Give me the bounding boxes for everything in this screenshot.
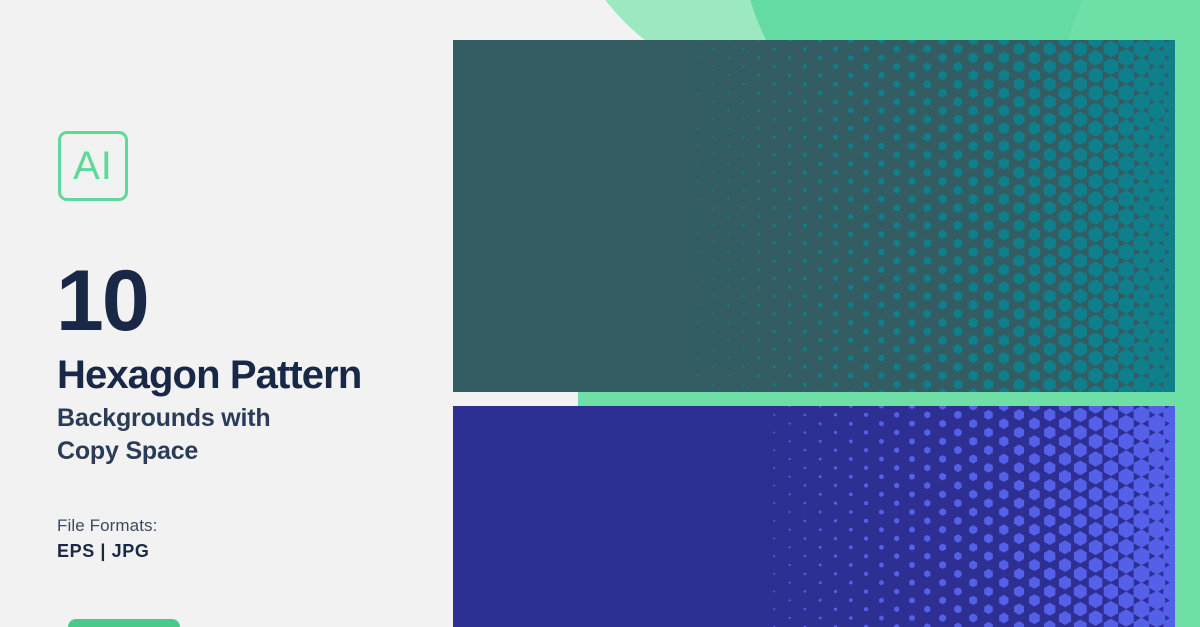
hexagon-halftone-teal: [453, 40, 1175, 392]
subtitle-line-1: Backgrounds with: [57, 402, 271, 435]
blue-hexagon-preview: [453, 406, 1175, 627]
page-title: Hexagon Pattern: [57, 355, 361, 395]
ai-format-badge: AI: [58, 131, 128, 201]
subtitle-line-2: Copy Space: [57, 435, 271, 468]
cta-button[interactable]: [68, 619, 180, 627]
item-count: 10: [56, 258, 148, 344]
teal-hexagon-preview: [453, 40, 1175, 392]
file-formats-value: EPS | JPG: [57, 541, 149, 562]
file-formats-label: File Formats:: [57, 516, 157, 536]
ai-badge-label: AI: [73, 146, 113, 186]
page-subtitle: Backgrounds with Copy Space: [57, 402, 271, 468]
hexagon-halftone-blue: [453, 406, 1175, 627]
poster-canvas: AI 10 Hexagon Pattern Backgrounds with C…: [0, 0, 1200, 627]
green-strip: [578, 390, 1200, 406]
